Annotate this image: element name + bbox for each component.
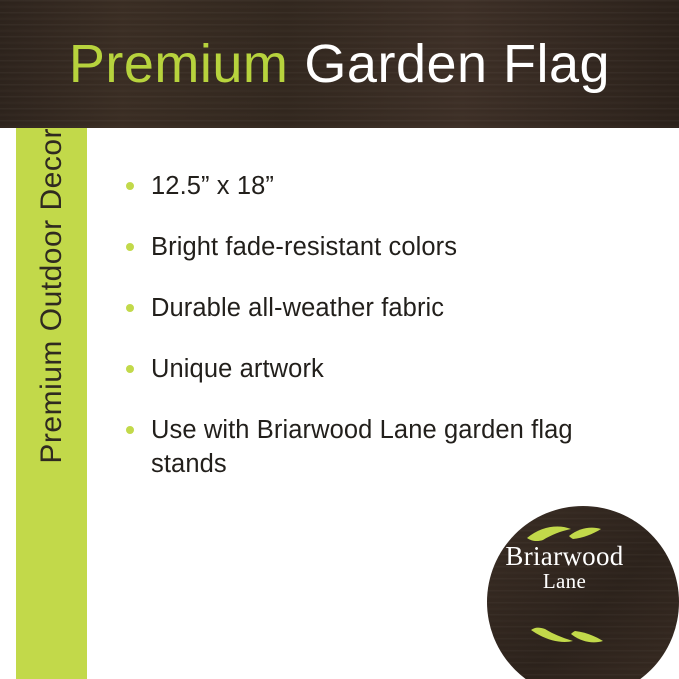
page-title-rest: Garden Flag [304,33,610,95]
list-item: Durable all-weather fabric [123,292,643,326]
page-title-accent: Premium [69,33,289,95]
list-item-label: Bright fade-resistant colors [151,233,457,261]
list-item: Unique artwork [123,353,643,387]
bullet-dot-icon [126,182,134,190]
list-item: Use with Briarwood Lane garden flag stan… [123,414,643,482]
list-item-label: Use with Briarwood Lane garden flag stan… [151,416,573,478]
bullet-dot-icon [126,243,134,251]
bullet-dot-icon [126,426,134,434]
bullet-dot-icon [126,304,134,312]
brand-subname: Lane [487,570,642,593]
bullet-dot-icon [126,365,134,373]
side-band-text: Premium Outdoor Decor [16,128,87,472]
list-item: Bright fade-resistant colors [123,231,643,265]
product-info-card: Premium Garden Flag Premium Outdoor Deco… [0,0,679,679]
page-title: Premium Garden Flag [0,0,679,128]
list-item-label: Durable all-weather fabric [151,294,444,322]
list-item-label: Unique artwork [151,355,324,383]
list-item-label: 12.5” x 18” [151,172,274,200]
side-band-text-wrap: Premium Outdoor Decor [16,128,87,679]
brand-logo-text: Briarwood Lane [487,542,642,593]
list-item: 12.5” x 18” [123,170,643,204]
leaf-icon [527,624,607,646]
feature-list: 12.5” x 18” Bright fade-resistant colors… [123,170,643,508]
header-bar: Premium Garden Flag [0,0,679,128]
brand-name: Briarwood [487,542,642,570]
